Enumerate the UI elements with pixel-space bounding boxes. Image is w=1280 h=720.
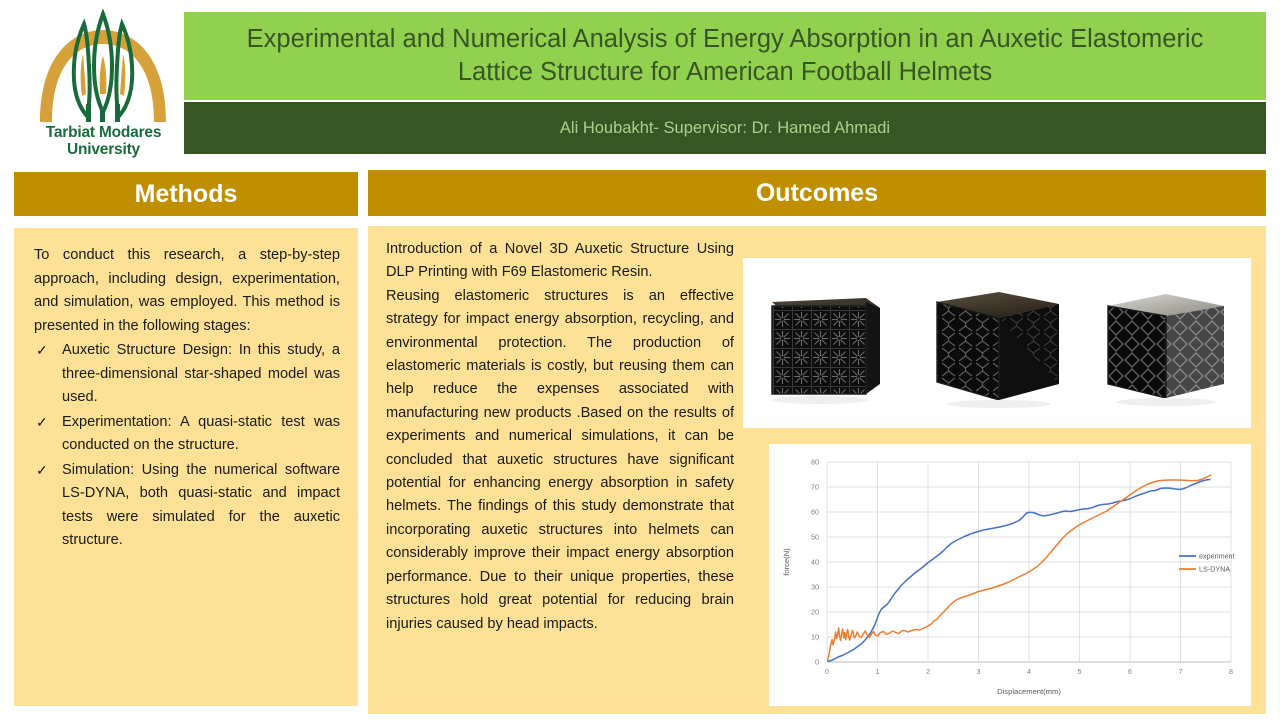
check-icon: ✓	[36, 339, 48, 363]
outcomes-heading-label: Outcomes	[756, 179, 878, 208]
chart-y-tick: 50	[811, 533, 819, 542]
chart-y-tick: 70	[811, 483, 819, 492]
chart-y-tick-labels: 01020304050607080	[811, 458, 819, 667]
chart-y-tick: 40	[811, 558, 819, 567]
methods-list-item: ✓ Simulation: Using the numerical softwa…	[34, 459, 340, 553]
methods-list-item: ✓ Experimentation: A quasi-static test w…	[34, 411, 340, 458]
auxetic-lattice-angled-photo	[923, 272, 1071, 414]
chart-y-tick: 0	[815, 658, 819, 667]
outcomes-paragraph-2: Reusing elastomeric structures is an eff…	[386, 285, 734, 636]
chart-y-tick: 60	[811, 508, 819, 517]
chart-x-tick: 7	[1179, 667, 1183, 676]
chart-x-tick: 2	[926, 667, 930, 676]
check-icon: ✓	[36, 411, 48, 435]
logo-line-2: University	[26, 141, 181, 158]
poster-authors: Ali Houbakht- Supervisor: Dr. Hamed Ahma…	[560, 119, 890, 138]
outcomes-body: Introduction of a Novel 3D Auxetic Struc…	[386, 238, 734, 636]
poster-title-band: Experimental and Numerical Analysis of E…	[184, 12, 1266, 100]
chart-canvas: 012345678 01020304050607080 experimentLS…	[769, 444, 1251, 706]
chart-x-tick: 0	[825, 667, 829, 676]
chart-x-tick: 8	[1229, 667, 1233, 676]
chart-x-tick: 6	[1128, 667, 1132, 676]
methods-section-header: Methods	[14, 172, 358, 216]
methods-heading-label: Methods	[135, 180, 238, 209]
methods-panel: To conduct this research, a step-by-step…	[14, 228, 358, 706]
methods-body: To conduct this research, a step-by-step…	[34, 244, 340, 553]
methods-item-label: Simulation: Using the numerical software…	[62, 462, 340, 549]
chart-y-tick: 20	[811, 608, 819, 617]
auxetic-lattice-diamond-face-photo	[1092, 272, 1240, 414]
methods-list-item: ✓ Auxetic Structure Design: In this stud…	[34, 339, 340, 410]
methods-item-label: Experimentation: A quasi-static test was…	[62, 414, 340, 454]
chart-legend-label: LS-DYNA	[1199, 565, 1230, 574]
chart-y-tick: 30	[811, 583, 819, 592]
auxetic-lattice-star-face-photo	[754, 272, 902, 414]
chart-y-axis-title: force(N)	[782, 548, 791, 576]
chart-x-tick: 4	[1027, 667, 1031, 676]
chart-y-tick: 10	[811, 633, 819, 642]
chart-legend-label: experiment	[1199, 552, 1235, 561]
logo-mark-icon	[26, 8, 181, 128]
methods-intro-text: To conduct this research, a step-by-step…	[34, 244, 340, 338]
logo-line-1: Tarbiat Modares	[26, 124, 181, 141]
university-logo: Tarbiat Modares University	[26, 8, 181, 168]
outcomes-section-header: Outcomes	[368, 170, 1266, 216]
chart-x-tick: 1	[876, 667, 880, 676]
outcomes-panel: Introduction of a Novel 3D Auxetic Struc…	[368, 226, 1266, 714]
chart-x-tick: 3	[977, 667, 981, 676]
poster-author-band: Ali Houbakht- Supervisor: Dr. Hamed Ahma…	[184, 102, 1266, 154]
chart-x-axis-title: Displacement(mm)	[997, 687, 1061, 696]
lattice-photo-strip	[743, 258, 1251, 428]
chart-x-tick: 5	[1078, 667, 1082, 676]
poster-title: Experimental and Numerical Analysis of E…	[184, 23, 1266, 89]
force-displacement-chart: 012345678 01020304050607080 experimentLS…	[769, 444, 1251, 706]
logo-wordmark: Tarbiat Modares University	[26, 124, 181, 158]
chart-y-tick: 80	[811, 458, 819, 467]
methods-item-label: Auxetic Structure Design: In this study,…	[62, 342, 340, 405]
poster-root: Tarbiat Modares University Experimental …	[0, 0, 1280, 720]
outcomes-paragraph-1: Introduction of a Novel 3D Auxetic Struc…	[386, 238, 734, 285]
check-icon: ✓	[36, 459, 48, 483]
